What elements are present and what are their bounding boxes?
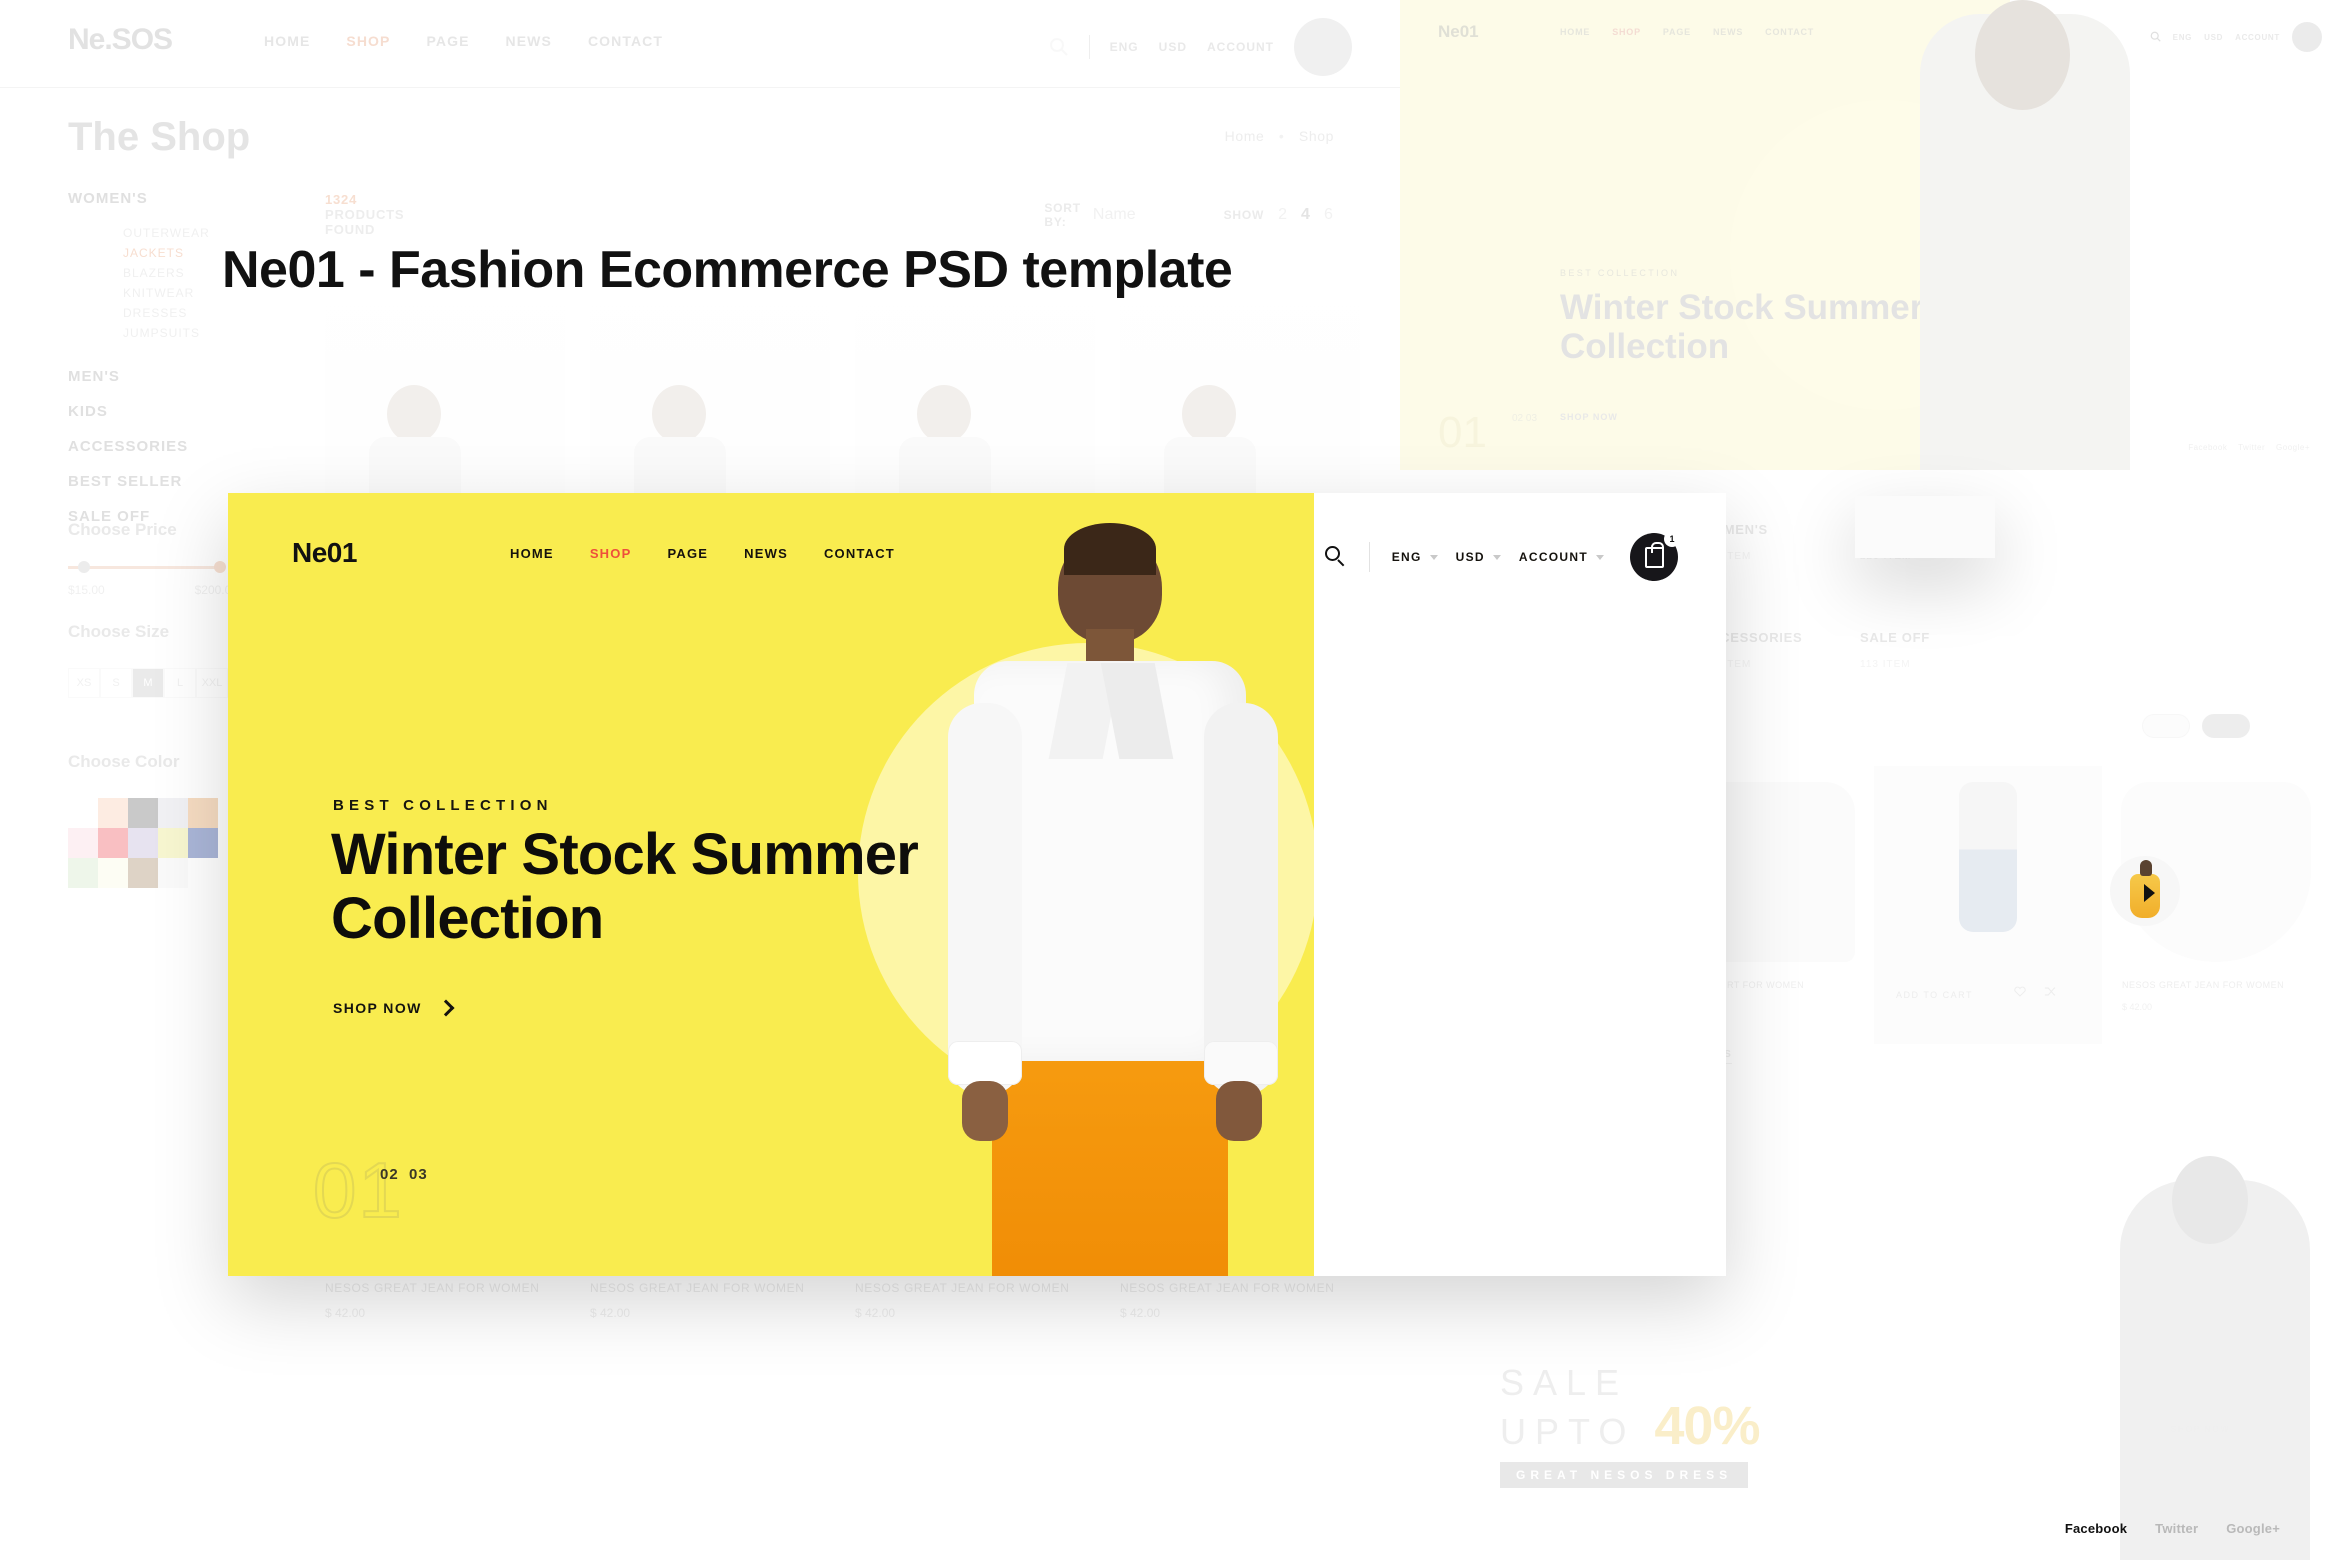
show-4[interactable]: 4 [1301, 206, 1310, 224]
hero-preview-card: Ne01 HOME SHOP PAGE NEWS CONTACT ENG USD… [228, 493, 1726, 1276]
color-swatch[interactable] [68, 798, 98, 828]
model-cuff-right [1204, 1041, 1278, 1085]
bg-hero-nav-shop[interactable]: SHOP [1612, 27, 1641, 37]
cart-badge: 1 [1664, 531, 1680, 547]
product-count-label: PRODUCTS FOUND [325, 207, 404, 237]
card-nav: HOME SHOP PAGE NEWS CONTACT [510, 546, 895, 561]
price-knob-max[interactable] [214, 561, 226, 573]
breadcrumb-sep: • [1279, 128, 1285, 144]
color-swatch[interactable] [98, 858, 128, 888]
background-nav[interactable]: HOME SHOP PAGE NEWS CONTACT [264, 33, 663, 49]
bg-cat-count: 113 ITEM [1860, 659, 2010, 670]
bg-hero-title-line2: Collection [1560, 327, 1729, 366]
show-label: SHOW [1224, 208, 1265, 222]
sidebar-item-accessories[interactable]: ACCESSORIES [68, 438, 318, 455]
bg-sale-line1: SALE [1500, 1365, 1759, 1400]
bg-account[interactable]: ACCOUNT [1207, 40, 1274, 54]
size-options: XS S M L XXL [68, 668, 228, 698]
bg-hero-nav-home[interactable]: HOME [1560, 27, 1590, 37]
model-arm-left [948, 703, 1022, 1095]
bg-nav-shop[interactable]: SHOP [346, 33, 390, 49]
bg-hero-cart-button[interactable] [2292, 22, 2322, 52]
size-xs[interactable]: XS [68, 668, 100, 698]
product-price: $ 42.00 [325, 1306, 540, 1320]
card-nav-contact[interactable]: CONTACT [824, 546, 895, 561]
background-page-title: The Shop [68, 115, 250, 160]
color-swatch[interactable] [68, 828, 98, 858]
bg-cart-button[interactable] [1294, 18, 1352, 76]
header-divider [1369, 542, 1370, 572]
model-hand-left [962, 1081, 1008, 1141]
sidebar-sub-dresses[interactable]: DRESSES [123, 306, 318, 320]
bg-currency[interactable]: USD [1159, 40, 1187, 54]
sidebar-sub-jumpsuits[interactable]: JUMPSUITS [123, 326, 318, 340]
product-price: $ 42.00 [855, 1306, 1070, 1320]
bg-cat-title: SALE OFF [1860, 630, 2010, 645]
bg-nav-contact[interactable]: CONTACT [588, 33, 663, 49]
product-name: NESOS GREAT JEAN FOR WOMEN [325, 1281, 540, 1295]
show-6[interactable]: 6 [1324, 206, 1333, 224]
search-icon[interactable] [1325, 546, 1347, 568]
color-swatch[interactable] [158, 798, 188, 828]
background-logo[interactable]: Ne.SOS [68, 23, 172, 57]
bg-hero-currency[interactable]: USD [2204, 33, 2223, 42]
price-knob-min[interactable] [78, 561, 90, 573]
bg-lang[interactable]: ENG [1110, 40, 1139, 54]
sidebar-item-best-seller[interactable]: BEST SELLER [68, 473, 318, 490]
product-count: 1324 PRODUCTS FOUND [325, 192, 404, 237]
bg-social-facebook[interactable]: Facebook [2188, 443, 2227, 452]
bg-next-arrow[interactable] [2202, 714, 2250, 738]
color-swatch[interactable] [128, 828, 158, 858]
color-swatch[interactable] [158, 858, 188, 888]
model-cuff-left [948, 1041, 1022, 1085]
color-swatch[interactable] [188, 858, 218, 888]
product-toolbar: 1324 PRODUCTS FOUND SORT BY: Name SHOW 2… [325, 192, 1345, 237]
bg-divider [1089, 35, 1090, 59]
bg-nav-page[interactable]: PAGE [426, 33, 469, 49]
card-header-tools: ENG USD ACCOUNT 1 [1325, 533, 1678, 581]
bg-nav-news[interactable]: NEWS [506, 33, 552, 49]
bg-sale-text: SALE UPTO 40% GREAT NESOS DRESS [1500, 1365, 1759, 1488]
card-nav-home[interactable]: HOME [510, 546, 554, 561]
bg-hero-cta[interactable]: SHOP NOW [1560, 412, 1618, 422]
bg-hero-lang[interactable]: ENG [2173, 33, 2192, 42]
bg-hero-socials: Facebook Twitter Google+ [2188, 443, 2310, 452]
bg-hero-nav-page[interactable]: PAGE [1663, 27, 1691, 37]
bg-hero-search-icon[interactable] [2150, 31, 2161, 44]
bg-hero-slides-rest[interactable]: 02 03 [1512, 413, 1537, 424]
hero-model-illustration [918, 533, 1308, 1276]
filter-color-title: Choose Color [68, 752, 218, 772]
color-swatch[interactable] [188, 828, 218, 858]
breadcrumb-home[interactable]: Home [1225, 128, 1265, 144]
size-xxl[interactable]: XXL [196, 668, 228, 698]
color-swatch[interactable] [98, 798, 128, 828]
bg-prev-arrow[interactable] [2142, 714, 2190, 738]
bg-hero-account[interactable]: ACCOUNT [2235, 33, 2280, 42]
bg-hero-nav[interactable]: HOME SHOP PAGE NEWS CONTACT [1560, 27, 1814, 37]
bg-search-icon[interactable] [1049, 37, 1069, 57]
product-price: $ 42.00 [1120, 1306, 1335, 1320]
bg-hero-model-head [1975, 0, 2070, 110]
bg-product-item[interactable]: NESOS GREAT JEAN FOR WOMEN $ 42.00 [2102, 766, 2330, 1044]
bg-hero-title-line1: Winter Stock Summer [1560, 288, 1923, 327]
bg-add-to-cart[interactable]: ADD TO CART [1896, 990, 1973, 1000]
bg-product-image [2121, 782, 2311, 962]
bg-carousel-arrows [2142, 714, 2250, 738]
bg-category-featured-card[interactable] [1855, 496, 1995, 558]
chevron-down-icon [1430, 555, 1438, 560]
size-m[interactable]: M [132, 668, 164, 698]
color-swatch[interactable] [68, 858, 98, 888]
chevron-down-icon [1493, 555, 1501, 560]
product-name: NESOS GREAT JEAN FOR WOMEN [590, 1281, 805, 1295]
page-title-overlay: Ne01 - Fashion Ecommerce PSD template [222, 240, 1232, 300]
price-min: $15.00 [68, 583, 105, 597]
model-hand-right [1216, 1081, 1262, 1141]
color-swatch[interactable] [128, 858, 158, 888]
bg-sale-line2: UPTO 40% [1500, 1400, 1759, 1453]
sidebar-item-womens[interactable]: WOMEN'S [68, 190, 318, 207]
screenshot-root: Ne.SOS HOME SHOP PAGE NEWS CONTACT ENG U… [0, 0, 2340, 1560]
model-arm-right [1204, 703, 1278, 1095]
bg-hero-title: Winter Stock Summer Collection [1560, 288, 1923, 366]
product-name: NESOS GREAT JEAN FOR WOMEN [855, 1281, 1070, 1295]
bg-hero-logo[interactable]: Ne01 [1438, 22, 1479, 42]
bg-hero-slide-current: 01 [1438, 408, 1487, 458]
bg-category-sale-off[interactable]: SALE OFF 113 ITEM [1860, 630, 2010, 670]
filter-price-title: Choose Price [68, 520, 238, 540]
bg-wishlist-icon[interactable] [2014, 984, 2026, 1002]
bg-nav-home[interactable]: HOME [264, 33, 310, 49]
language-value: ENG [1392, 550, 1422, 564]
bg-sale-banner: GREAT NESOS DRESS [1500, 1462, 1748, 1488]
bg-product-price: $ 42.00 [2122, 1002, 2152, 1012]
bg-hero-panel: Ne01 HOME SHOP PAGE NEWS CONTACT ENG USD… [1400, 0, 2340, 470]
size-l[interactable]: L [164, 668, 196, 698]
bg-sale-percent: 40% [1654, 1396, 1759, 1456]
filter-price: Choose Price $15.00 $200.00 [68, 520, 238, 597]
bg-social-googleplus[interactable]: Google+ [2276, 443, 2310, 452]
background-header-tools: ENG USD ACCOUNT [1049, 18, 1352, 76]
sidebar-sub-outerwear[interactable]: OUTERWEAR [123, 226, 318, 240]
sidebar-item-kids[interactable]: KIDS [68, 403, 318, 420]
price-range-slider[interactable] [68, 566, 220, 569]
bg-social-twitter[interactable]: Twitter [2238, 443, 2265, 452]
sidebar-item-mens[interactable]: MEN'S [68, 368, 318, 385]
bg-product-item-hover[interactable]: ADD TO CART [1874, 766, 2102, 1044]
card-white-panel [1314, 493, 1726, 1276]
card-logo[interactable]: Ne01 [292, 537, 357, 569]
color-swatches[interactable] [68, 798, 218, 888]
currency-selector[interactable]: USD [1456, 550, 1501, 564]
account-menu[interactable]: ACCOUNT [1519, 550, 1604, 564]
cart-button[interactable]: 1 [1630, 533, 1678, 581]
bg-product-image [1893, 782, 2083, 962]
filter-size: Choose Size XS S M L XXL [68, 622, 228, 698]
bg-hero-nav-news[interactable]: NEWS [1713, 27, 1743, 37]
bg-sale-model-head [2172, 1156, 2248, 1244]
card-nav-page[interactable]: PAGE [667, 546, 708, 561]
bg-compare-icon[interactable] [2044, 984, 2056, 1002]
size-s[interactable]: S [100, 668, 132, 698]
product-name: NESOS GREAT JEAN FOR WOMEN [1120, 1281, 1335, 1295]
background-breadcrumb: Home • Shop [1225, 128, 1334, 144]
language-selector[interactable]: ENG [1392, 550, 1438, 564]
show-2[interactable]: 2 [1278, 206, 1287, 224]
product-count-number: 1324 [325, 192, 357, 207]
background-header: Ne.SOS HOME SHOP PAGE NEWS CONTACT ENG U… [0, 0, 1430, 88]
breadcrumb-current: Shop [1299, 128, 1334, 144]
bg-sale-word-upto: UPTO [1500, 1411, 1635, 1452]
card-nav-news[interactable]: NEWS [744, 546, 788, 561]
color-swatch[interactable] [188, 798, 218, 828]
shopping-bag-icon [1645, 547, 1664, 568]
color-swatch[interactable] [158, 828, 188, 858]
card-nav-shop[interactable]: SHOP [590, 546, 632, 561]
bg-sale-word-sale: SALE [1500, 1362, 1628, 1403]
chevron-down-icon [1596, 555, 1604, 560]
color-swatch[interactable] [128, 798, 158, 828]
account-label: ACCOUNT [1519, 550, 1588, 564]
bg-product-name: NESOS GREAT JEAN FOR WOMEN [2122, 980, 2284, 990]
price-values: $15.00 $200.00 [68, 583, 238, 597]
sort-by-value[interactable]: Name [1093, 206, 1136, 224]
bg-hero-nav-contact[interactable]: CONTACT [1765, 27, 1814, 37]
bg-sale-cta[interactable]: SHOP NOW [2171, 1424, 2230, 1434]
bg-hero-eyebrow: BEST COLLECTION [1560, 268, 1679, 278]
bg-hero-tools: ENG USD ACCOUNT [2150, 22, 2322, 52]
model-skirt [992, 1025, 1228, 1276]
currency-value: USD [1456, 550, 1485, 564]
sort-by-label: SORT BY: [1044, 201, 1081, 229]
model-hair [1064, 523, 1156, 575]
filter-color: Choose Color [68, 752, 218, 888]
filter-size-title: Choose Size [68, 622, 228, 642]
color-swatch[interactable] [98, 828, 128, 858]
product-price: $ 42.00 [590, 1306, 805, 1320]
